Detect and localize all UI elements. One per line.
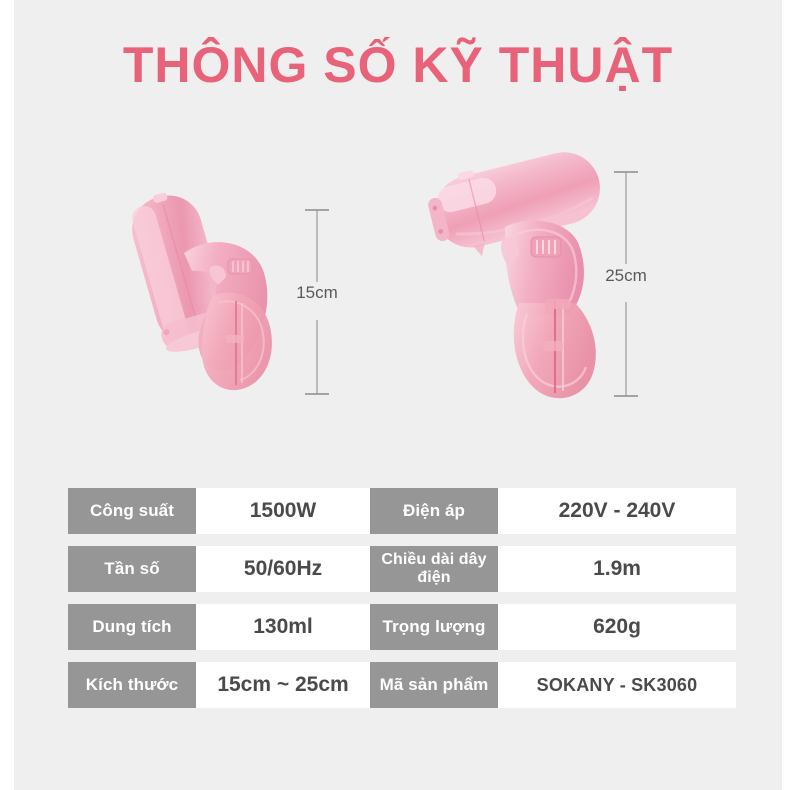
- spec-label-weight: Trọng lượng: [370, 604, 498, 650]
- dimension-15cm: 15cm: [282, 208, 372, 388]
- spec-label-frequency: Tần số: [68, 546, 196, 592]
- spec-label-capacity: Dung tích: [68, 604, 196, 650]
- spec-label-power: Công suất: [68, 488, 196, 534]
- dimension-label-15cm: 15cm: [282, 283, 352, 303]
- product-image-folded-steamer: [114, 175, 304, 405]
- product-spec-page: THÔNG SỐ KỸ THUẬT: [0, 0, 790, 790]
- dimension-line-15cm: [282, 208, 352, 398]
- spec-value-power: 1500W: [196, 488, 370, 534]
- table-row: Công suất 1500W Điện áp 220V - 240V: [68, 488, 744, 534]
- spec-value-capacity: 130ml: [196, 604, 370, 650]
- spec-value-voltage: 220V - 240V: [498, 488, 736, 534]
- table-row: Dung tích 130ml Trọng lượng 620g: [68, 604, 744, 650]
- content-canvas: THÔNG SỐ KỸ THUẬT: [14, 0, 782, 790]
- page-title: THÔNG SỐ KỸ THUẬT: [14, 38, 782, 93]
- table-row: Kích thước 15cm ~ 25cm Mã sản phẩm SOKAN…: [68, 662, 744, 708]
- spec-label-model: Mã sản phẩm: [370, 662, 498, 708]
- spec-value-cord-length: 1.9m: [498, 546, 736, 592]
- dimension-25cm: 25cm: [591, 170, 681, 392]
- spec-table: Công suất 1500W Điện áp 220V - 240V Tần …: [68, 488, 744, 708]
- spec-value-frequency: 50/60Hz: [196, 546, 370, 592]
- spec-value-weight: 620g: [498, 604, 736, 650]
- spec-value-model: SOKANY - SK3060: [498, 662, 736, 708]
- spec-value-size: 15cm ~ 25cm: [196, 662, 370, 708]
- product-showcase: 15cm 25cm: [14, 130, 782, 460]
- dimension-label-25cm: 25cm: [591, 266, 661, 286]
- table-row: Tần số 50/60Hz Chiều dài dây điện 1.9m: [68, 546, 744, 592]
- spec-label-voltage: Điện áp: [370, 488, 498, 534]
- spec-label-cord-length: Chiều dài dây điện: [370, 546, 498, 592]
- spec-label-size: Kích thước: [68, 662, 196, 708]
